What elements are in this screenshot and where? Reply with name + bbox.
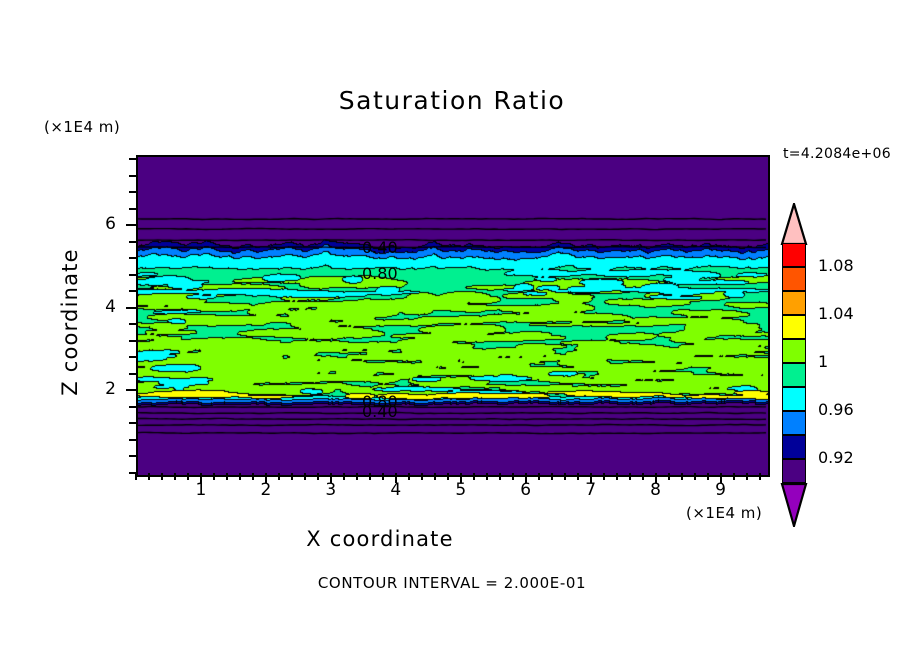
colorbar-tick-label: 1 (818, 352, 828, 371)
x-axis-tick (278, 473, 280, 480)
y-axis-tick (129, 406, 136, 408)
y-axis-tick (129, 455, 136, 457)
colorbar-band (782, 459, 806, 483)
x-axis-tick (564, 473, 566, 480)
x-axis-tick (226, 473, 228, 480)
x-axis-tick-label: 8 (636, 480, 676, 500)
x-axis-tick (616, 473, 618, 480)
x-axis-tick (187, 473, 189, 480)
x-axis-tick (486, 473, 488, 480)
x-axis-tick (382, 473, 384, 480)
colorbar-band (782, 267, 806, 291)
y-axis-tick-major (126, 307, 136, 309)
x-axis-tick (148, 473, 150, 480)
y-axis-tick (129, 439, 136, 441)
x-axis-tick (746, 473, 748, 480)
x-axis-tick-label: 5 (441, 480, 481, 500)
x-axis-tick (252, 473, 254, 480)
colorbar-band (782, 315, 806, 339)
contour-field-canvas (138, 157, 768, 475)
x-axis-tick (473, 473, 475, 480)
y-axis-tick-major (126, 389, 136, 391)
x-axis-tick (239, 473, 241, 480)
colorbar-band (782, 291, 806, 315)
x-axis-tick (421, 473, 423, 480)
y-axis-tick-label: 6 (86, 214, 116, 234)
y-axis-tick-major (126, 224, 136, 226)
page-title: Saturation Ratio (0, 86, 904, 115)
x-axis-tick (577, 473, 579, 480)
x-axis-tick (629, 473, 631, 480)
x-axis-tick (538, 473, 540, 480)
x-axis-tick (707, 473, 709, 480)
contour-level-label: 0.40 (362, 238, 398, 257)
x-axis-tick (304, 473, 306, 480)
x-axis-tick (174, 473, 176, 480)
colorbar-tick-label: 0.96 (818, 400, 854, 419)
x-axis-tick (161, 473, 163, 480)
timestamp-label: t=4.2084e+06 (783, 146, 891, 162)
y-axis-tick (129, 257, 136, 259)
y-axis-tick (129, 323, 136, 325)
y-axis-tick (129, 191, 136, 193)
x-axis-tick (694, 473, 696, 480)
y-axis-tick (129, 274, 136, 276)
x-axis-title: X coordinate (0, 527, 760, 551)
y-axis-tick (129, 356, 136, 358)
y-axis-title: Z coordinate (58, 192, 82, 452)
x-axis-tick-label: 2 (246, 480, 286, 500)
x-axis-tick (135, 473, 137, 480)
x-axis-tick-label: 7 (571, 480, 611, 500)
colorbar-band (782, 243, 806, 267)
y-axis-tick (129, 472, 136, 474)
colorbar-band (782, 339, 806, 363)
x-axis-tick (408, 473, 410, 480)
x-axis-tick (343, 473, 345, 480)
colorbar-tick-label: 0.92 (818, 448, 854, 467)
x-axis-tick-label: 4 (376, 480, 416, 500)
y-axis-tick-label: 2 (86, 379, 116, 399)
x-axis-tick (447, 473, 449, 480)
colorbar-bottom-cap (780, 483, 808, 527)
y-axis-unit-label: (×1E4 m) (44, 118, 120, 136)
x-axis-tick (551, 473, 553, 480)
x-axis-tick (668, 473, 670, 480)
x-axis-tick (733, 473, 735, 480)
x-axis-tick (291, 473, 293, 480)
x-axis-tick (603, 473, 605, 480)
colorbar-tick-label: 1.08 (818, 256, 854, 275)
x-axis-tick (369, 473, 371, 480)
y-axis-tick (129, 158, 136, 160)
x-axis-tick (356, 473, 358, 480)
x-axis-tick (759, 473, 761, 480)
contour-level-label: 0.80 (362, 264, 398, 283)
x-axis-tick (512, 473, 514, 480)
colorbar-band (782, 435, 806, 459)
x-axis-tick (434, 473, 436, 480)
contour-level-label: 0.40 (362, 402, 398, 421)
x-axis-tick (499, 473, 501, 480)
colorbar-band (782, 387, 806, 411)
x-axis-tick (681, 473, 683, 480)
y-axis-tick (129, 208, 136, 210)
x-axis-tick (213, 473, 215, 480)
y-axis-tick (129, 175, 136, 177)
y-axis-tick (129, 241, 136, 243)
x-axis-tick (317, 473, 319, 480)
colorbar-tick-label: 1.04 (818, 304, 854, 323)
y-axis-tick (129, 422, 136, 424)
colorbar-band (782, 363, 806, 387)
x-axis-tick-label: 3 (311, 480, 351, 500)
x-axis-tick-label: 6 (506, 480, 546, 500)
x-axis-tick-label: 9 (701, 480, 741, 500)
y-axis-tick (129, 290, 136, 292)
x-axis-unit-label: (×1E4 m) (686, 504, 762, 522)
colorbar: 1.081.0410.960.92 (778, 203, 812, 523)
colorbar-band (782, 411, 806, 435)
x-axis-tick-label: 1 (181, 480, 221, 500)
colorbar-top-cap (780, 203, 808, 245)
x-axis-tick (642, 473, 644, 480)
contour-interval-caption: CONTOUR INTERVAL = 2.000E-01 (0, 574, 904, 592)
y-axis-tick (129, 340, 136, 342)
contour-plot-area (136, 155, 770, 477)
y-axis-tick-label: 4 (86, 297, 116, 317)
y-axis-tick (129, 373, 136, 375)
